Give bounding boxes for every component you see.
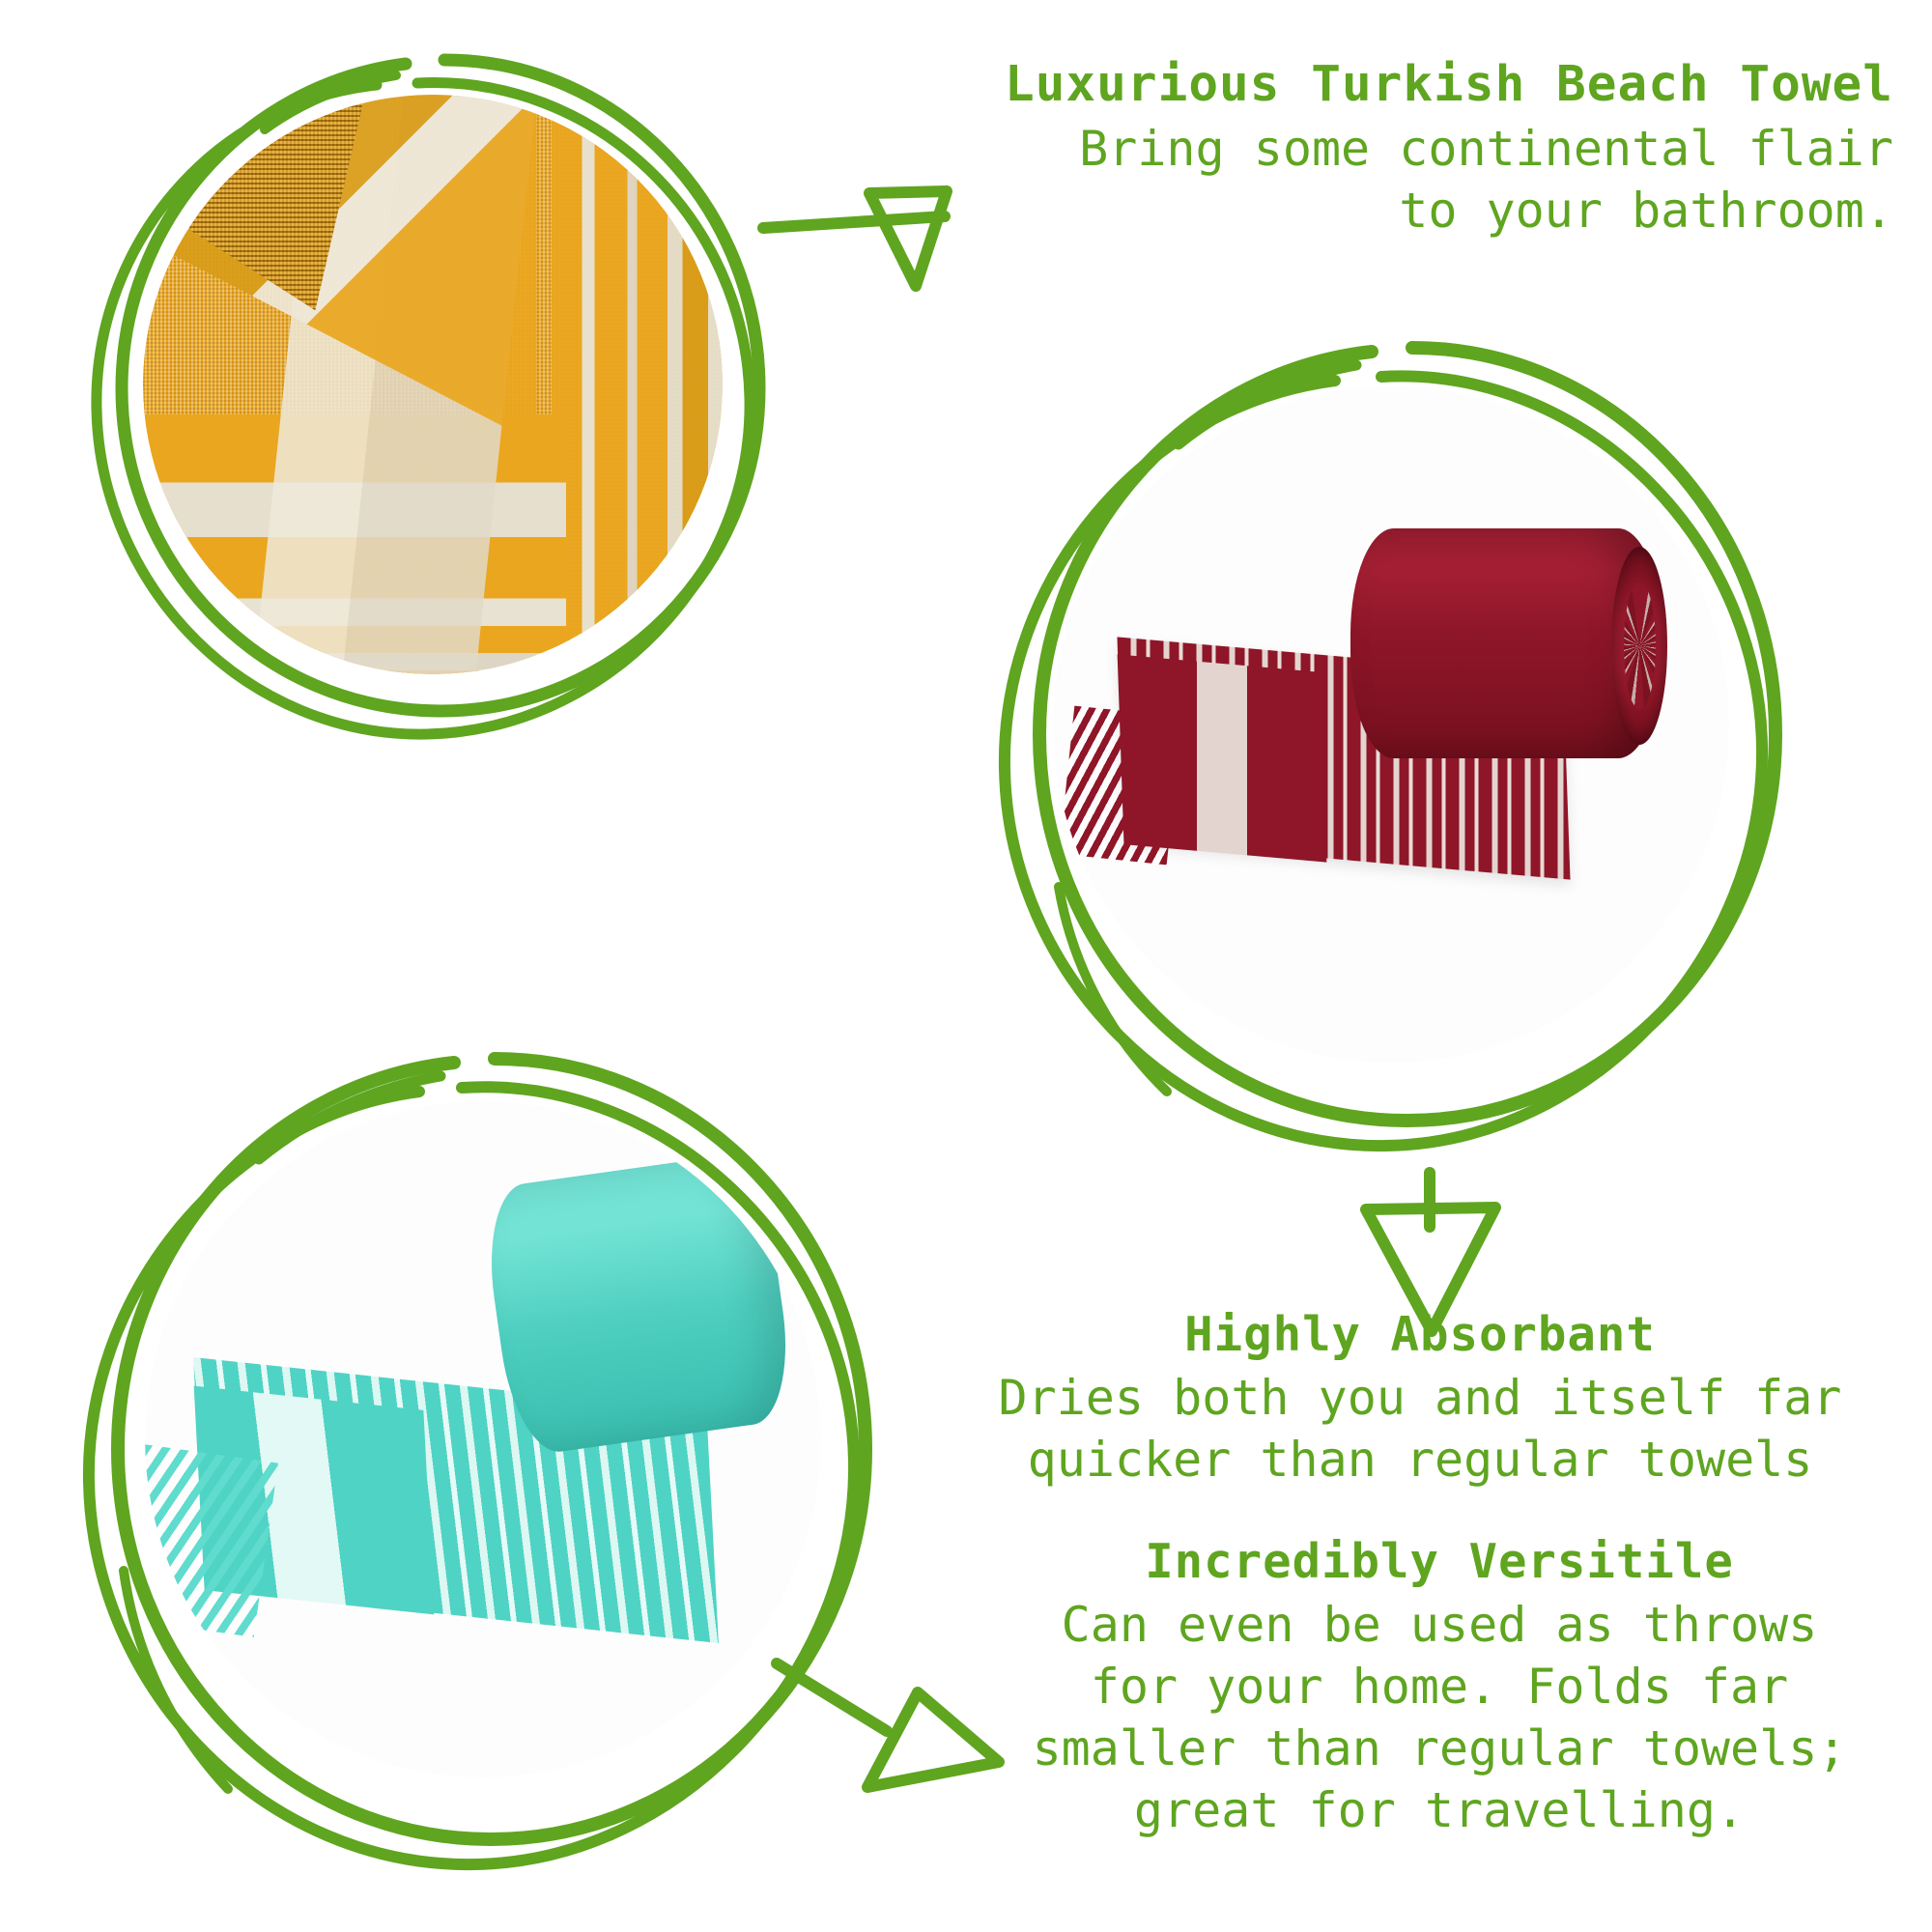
feature-3-line-2: for your home. Folds far bbox=[985, 1656, 1893, 1718]
feature-block-1: Luxurious Turkish Beach Towel Bring some… bbox=[985, 58, 1893, 241]
feature-2-body: Dries both you and itself far quicker th… bbox=[947, 1367, 1893, 1491]
feature-2-heading: Highly Absorbant bbox=[947, 1309, 1893, 1361]
feature-1-body: Bring some continental flair to your bat… bbox=[985, 118, 1893, 241]
feature-2-line-1: Dries both you and itself far bbox=[947, 1367, 1893, 1429]
feature-3-line-3: smaller than regular towels; bbox=[985, 1718, 1893, 1779]
maroon-roll-end bbox=[1611, 547, 1667, 745]
feature-3-line-4: great for travelling. bbox=[985, 1779, 1893, 1841]
towel-gold-texture bbox=[143, 95, 723, 674]
feature-3-line-1: Can even be used as throws bbox=[985, 1594, 1893, 1656]
maroon-fringe bbox=[1059, 706, 1181, 866]
photo-badge-teal bbox=[145, 1101, 821, 1777]
feature-block-3: Incredibly Versitile Can even be used as… bbox=[985, 1536, 1893, 1841]
feature-2-line-2: quicker than regular towels bbox=[947, 1429, 1893, 1491]
feature-block-2: Highly Absorbant Dries both you and itse… bbox=[947, 1309, 1893, 1491]
photo-gold-weave bbox=[143, 95, 723, 674]
photo-teal-roll bbox=[145, 1101, 821, 1777]
feature-1-line-1: Bring some continental flair bbox=[985, 118, 1893, 180]
feature-3-heading: Incredibly Versitile bbox=[985, 1536, 1893, 1588]
photo-badge-maroon bbox=[1053, 386, 1729, 1063]
feature-1-heading: Luxurious Turkish Beach Towel bbox=[985, 58, 1893, 112]
infographic-canvas: Luxurious Turkish Beach Towel Bring some… bbox=[0, 0, 1932, 1932]
teal-roll-body bbox=[479, 1151, 798, 1458]
feature-1-line-2: to your bathroom. bbox=[985, 180, 1893, 241]
photo-badge-gold bbox=[143, 95, 723, 674]
photo-maroon-roll bbox=[1053, 386, 1729, 1063]
feature-3-body: Can even be used as throws for your home… bbox=[985, 1594, 1893, 1841]
maroon-roll-body bbox=[1350, 528, 1662, 758]
gold-vertical-stripes bbox=[552, 95, 723, 674]
